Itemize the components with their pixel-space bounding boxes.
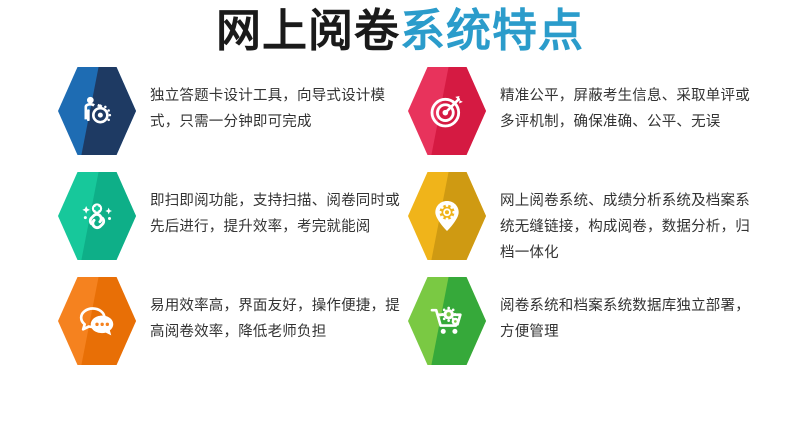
page-title-accent: 系统特点 [400,5,584,56]
page-title-main: 网上阅卷 [216,5,400,56]
feature-item-system-integration: 网上阅卷系统、成绩分析系统及档案系统无缝链接，构成阅卷，数据分析，归档一体化 [408,172,758,266]
feature-text: 精准公平，屏蔽考生信息、采取单评或多评机制，确保准确、公平、无误 [500,67,758,135]
feature-text: 独立答题卡设计工具，向导式设计模式，只需一分钟即可完成 [150,67,408,135]
feature-item-scan-and-grade: 即扫即阅功能，支持扫描、阅卷同时或先后进行，提升效率，考完就能阅 [58,172,408,260]
feature-hexagon [408,172,486,260]
feature-list-page: 网上阅卷系统特点 [0,0,800,436]
shopping-cart-gear-icon [408,277,486,365]
feature-text: 易用效率高，界面友好，操作便捷，提高阅卷效率，降低老师负担 [150,277,408,345]
feature-hexagon [58,277,136,365]
feature-text: 网上阅卷系统、成绩分析系统及档案系统无缝链接，构成阅卷，数据分析，归档一体化 [500,172,758,266]
feature-item-independent-database: 阅卷系统和档案系统数据库独立部署，方便管理 [408,277,758,365]
target-dartboard-icon [408,67,486,155]
link-chain-icon [58,172,136,260]
feature-hexagon [58,172,136,260]
chat-bubbles-icon [58,277,136,365]
feature-item-answer-sheet-designer: 独立答题卡设计工具，向导式设计模式，只需一分钟即可完成 [58,67,408,155]
person-gear-icon [58,67,136,155]
feature-item-fair-grading: 精准公平，屏蔽考生信息、采取单评或多评机制，确保准确、公平、无误 [408,67,758,155]
feature-text: 即扫即阅功能，支持扫描、阅卷同时或先后进行，提升效率，考完就能阅 [150,172,408,240]
feature-item-easy-to-use: 易用效率高，界面友好，操作便捷，提高阅卷效率，降低老师负担 [58,277,408,365]
feature-text: 阅卷系统和档案系统数据库独立部署，方便管理 [500,277,758,345]
page-title: 网上阅卷系统特点 [0,4,800,58]
feature-hexagon [408,277,486,365]
feature-hexagon [58,67,136,155]
feature-grid: 独立答题卡设计工具，向导式设计模式，只需一分钟即可完成 [0,62,800,382]
feature-hexagon [408,67,486,155]
map-pin-gear-icon [408,172,486,260]
